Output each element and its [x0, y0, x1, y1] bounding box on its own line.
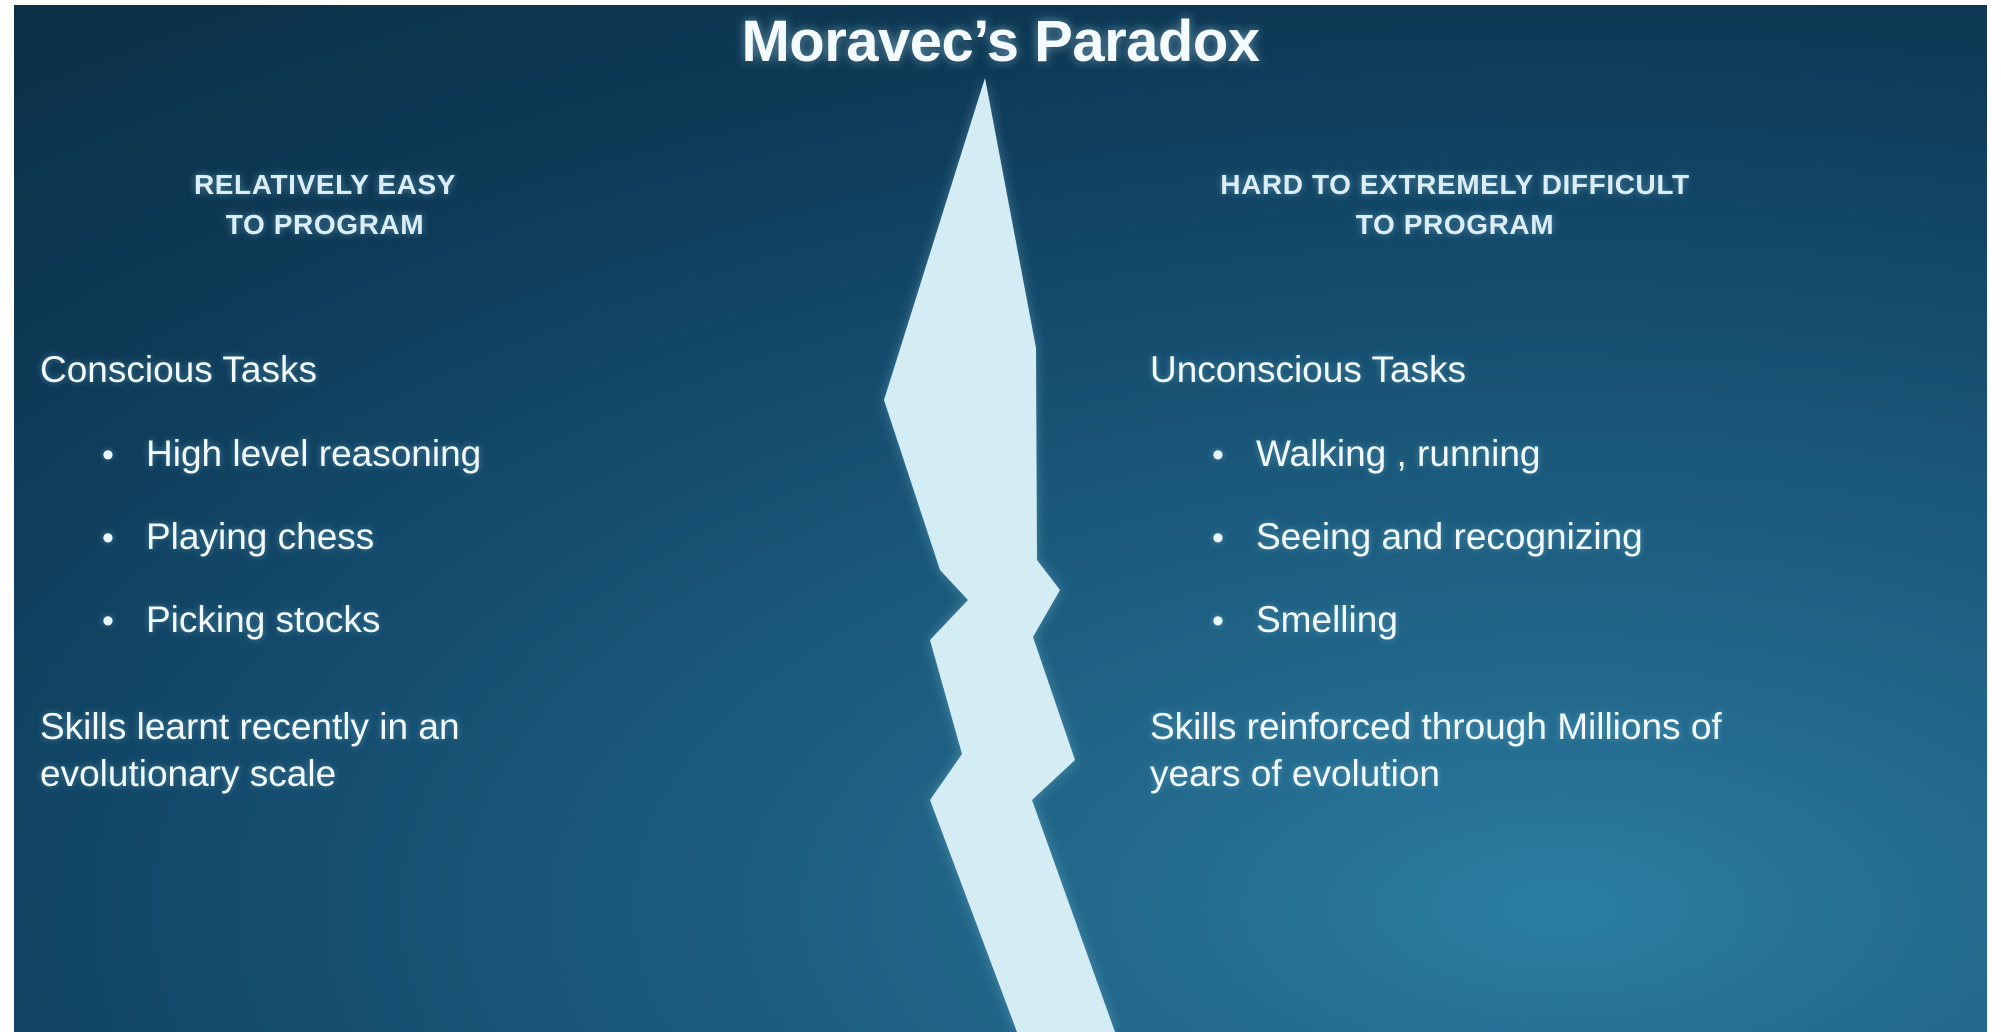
- column-left-bullet-list: • High level reasoning • Playing chess •…: [40, 433, 730, 641]
- top-white-strip: [0, 0, 2001, 5]
- bullet-dot-icon: •: [40, 604, 146, 638]
- column-left-footnote: Skills learnt recently in an evolutionar…: [40, 703, 730, 798]
- bullet-dot-icon: •: [40, 521, 146, 555]
- column-left-task-heading: Conscious Tasks: [40, 349, 730, 391]
- column-left-header-line-1: RELATIVELY EASY: [40, 165, 610, 205]
- list-item-label: Walking , running: [1256, 433, 1541, 475]
- list-item-label: High level reasoning: [146, 433, 481, 475]
- page-title: Moravec’s Paradox: [0, 8, 2001, 75]
- slide-canvas: Moravec’s Paradox RELATIVELY EASY TO PRO…: [0, 0, 2001, 1032]
- list-item: • Seeing and recognizing: [1150, 516, 1940, 558]
- column-right-task-heading: Unconscious Tasks: [1150, 349, 1940, 391]
- list-item-label: Smelling: [1256, 599, 1398, 641]
- left-white-margin: [0, 0, 14, 1032]
- bullet-dot-icon: •: [40, 438, 146, 472]
- column-left-footnote-line-1: Skills learnt recently in an: [40, 703, 730, 750]
- list-item: • High level reasoning: [40, 433, 730, 475]
- list-item-label: Seeing and recognizing: [1256, 516, 1643, 558]
- list-item: • Picking stocks: [40, 599, 730, 641]
- column-right-bullet-list: • Walking , running • Seeing and recogni…: [1150, 433, 1940, 641]
- right-white-margin: [1987, 0, 2001, 1032]
- list-item-label: Playing chess: [146, 516, 374, 558]
- list-item: • Playing chess: [40, 516, 730, 558]
- column-right-header-line-2: TO PROGRAM: [1150, 205, 1760, 245]
- column-left: RELATIVELY EASY TO PROGRAM Conscious Tas…: [40, 0, 730, 797]
- column-left-header-line-2: TO PROGRAM: [40, 205, 610, 245]
- list-item: • Smelling: [1150, 599, 1940, 641]
- column-right-header-line-1: HARD TO EXTREMELY DIFFICULT: [1150, 165, 1760, 205]
- bullet-dot-icon: •: [1150, 438, 1256, 472]
- list-item-label: Picking stocks: [146, 599, 380, 641]
- column-left-header: RELATIVELY EASY TO PROGRAM: [40, 165, 730, 245]
- column-right-footnote-line-2: years of evolution: [1150, 750, 1940, 797]
- bullet-dot-icon: •: [1150, 604, 1256, 638]
- column-right-header: HARD TO EXTREMELY DIFFICULT TO PROGRAM: [1150, 165, 1940, 245]
- column-right-footnote-line-1: Skills reinforced through Millions of: [1150, 703, 1940, 750]
- column-right-footnote: Skills reinforced through Millions of ye…: [1150, 703, 1940, 798]
- column-left-footnote-line-2: evolutionary scale: [40, 750, 730, 797]
- list-item: • Walking , running: [1150, 433, 1940, 475]
- bullet-dot-icon: •: [1150, 521, 1256, 555]
- column-right: HARD TO EXTREMELY DIFFICULT TO PROGRAM U…: [1150, 0, 1940, 797]
